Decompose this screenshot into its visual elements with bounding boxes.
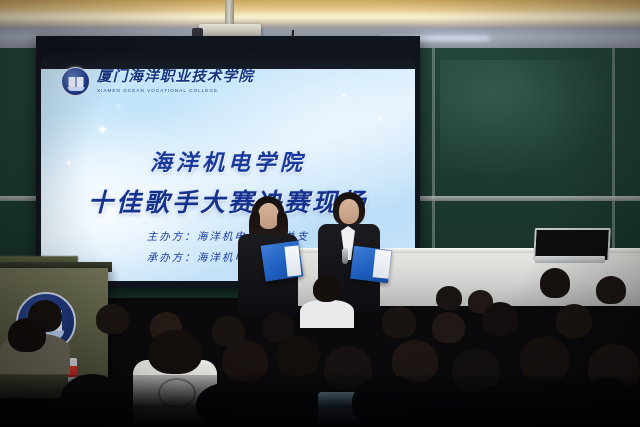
audience-head [556, 304, 592, 338]
folder-page [284, 245, 301, 276]
sparkle-icon: ✧ [115, 103, 122, 111]
slide-title-line1: 海洋机电学院 [41, 145, 415, 177]
school-name-en: XIAMEN OCEAN VOCATIONAL COLLEGE [97, 88, 254, 93]
audience-white-shirt [300, 300, 354, 328]
audience-head [382, 306, 416, 338]
audience-head [313, 276, 340, 302]
host-face [339, 199, 359, 224]
projector-mount-pole [225, 0, 234, 26]
handheld-microphone [342, 248, 348, 264]
sparkle-icon: ✧ [377, 115, 385, 124]
audience-head [596, 276, 626, 304]
audience-head [432, 312, 465, 343]
laptop-keyboard-base [535, 256, 605, 263]
sparkle-icon: ✦ [97, 123, 108, 136]
folder-page [373, 249, 392, 279]
foreground-shadow [0, 375, 640, 427]
audience-head [276, 336, 320, 376]
host-face [258, 203, 279, 229]
event-photo-scene: 厦门海洋职业技术学院 XIAMEN OCEAN VOCATIONAL COLLE… [0, 0, 640, 427]
chalkboard-sheen [440, 60, 620, 180]
school-name-cn: 厦门海洋职业技术学院 [97, 70, 254, 85]
sparkle-icon: ✦ [341, 93, 347, 100]
slide-school-header: 厦门海洋职业技术学院 XIAMEN OCEAN VOCATIONAL COLLE… [61, 67, 254, 96]
audience-head [436, 286, 462, 310]
audience-head [8, 318, 46, 352]
audience-head [148, 330, 202, 374]
audience-head [540, 268, 570, 298]
screen-top-band [41, 47, 415, 69]
ceiling-light-glow [0, 14, 640, 22]
audience-head [482, 302, 518, 336]
audience-head [96, 304, 129, 334]
school-emblem-icon [61, 67, 90, 96]
